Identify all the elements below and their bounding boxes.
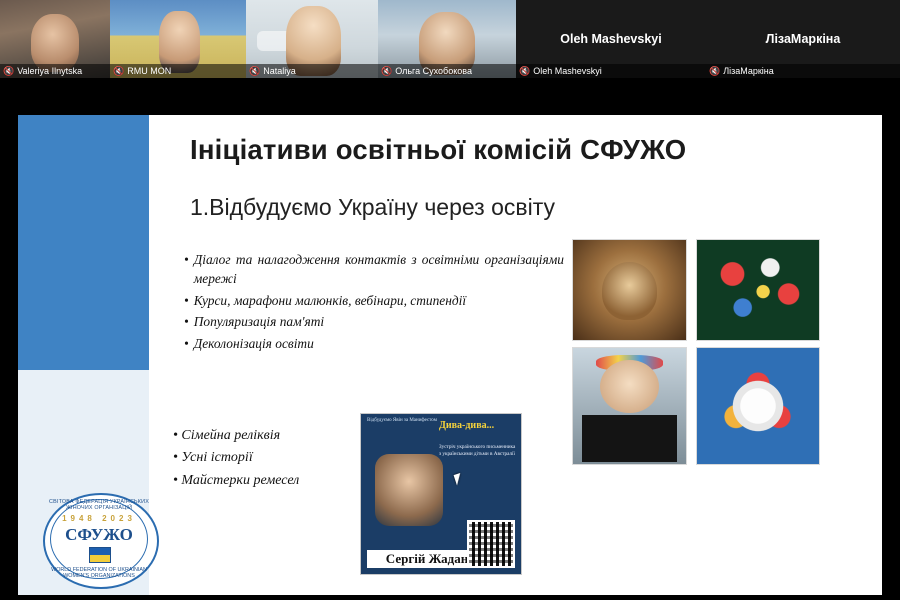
flower-wreath-icon — [596, 355, 664, 371]
overlay-logo-icon — [257, 31, 302, 51]
sfuzho-emblem-logo: СВІТОВА ФЕДЕРАЦІЯ УКРАЇНСЬКИХ ЖІНОЧИХ ОР… — [43, 493, 155, 585]
slide-photo-grid — [558, 239, 818, 509]
participant-tile-2[interactable]: 🔇 Nataliya — [246, 0, 378, 78]
floral-embroidery-dark-photo — [696, 239, 820, 341]
bullet-dot-icon: • — [184, 334, 189, 353]
event-poster-image: Відбудуємо Явін за Манифестом Дива-дива.… — [360, 413, 522, 575]
bullet-dot-icon: • — [184, 312, 189, 331]
poster-top-note: Відбудуємо Явін за Манифестом — [367, 418, 437, 423]
bullet-text: Популяризація пам'яті — [194, 312, 564, 331]
participant-tile-3[interactable]: 🔇 Ольга Сухобокова — [378, 0, 516, 78]
bullet-text: Діалог та налагодження контактів з освіт… — [194, 250, 564, 289]
mic-off-icon: 🔇 — [519, 67, 530, 76]
bullet-text: Сімейна реліквія — [181, 428, 280, 443]
video-call-screen: 🔇 Valeriya Ilnytska 🔇 RMU MON 🔇 Nataliya… — [0, 0, 900, 600]
mic-off-icon: 🔇 — [3, 67, 14, 76]
participant-namebar-5: 🔇 ЛізаМаркіна — [706, 64, 900, 78]
bullet-dot-icon: • — [173, 450, 178, 465]
mic-off-icon: 🔇 — [113, 67, 124, 76]
participant-tile-1[interactable]: 🔇 RMU MON — [110, 0, 246, 78]
participant-name-label-4: Oleh Mashevskyi — [533, 64, 602, 78]
poster-title: Дива-дива... — [439, 420, 517, 431]
participant-name-1: RMU MON — [127, 64, 171, 78]
participant-name-3: Ольга Сухобокова — [395, 64, 472, 78]
participant-tile-4[interactable]: Oleh Mashevskyi 🔇 Oleh Mashevskyi — [516, 0, 706, 78]
participant-tile-5[interactable]: ЛізаМаркіна 🔇 ЛізаМаркіна — [706, 0, 900, 78]
qr-code-icon — [467, 520, 515, 568]
mic-off-icon: 🔇 — [381, 67, 392, 76]
bullet-dot-icon: • — [173, 473, 178, 488]
participant-tile-0[interactable]: 🔇 Valeriya Ilnytska — [0, 0, 110, 78]
floral-embroidery-blue-photo — [696, 347, 820, 465]
emblem-arc-bottom: WORLD FEDERATION OF UKRAINIAN WOMEN'S OR… — [43, 567, 155, 579]
presentation-slide: Ініціативи освітньої комісій СФУЖО 1.Від… — [18, 115, 882, 595]
poster-subtitle: Зустріч українського письменника з украї… — [439, 444, 517, 457]
ukraine-flag-icon — [89, 547, 111, 563]
embroidered-cloth — [582, 415, 677, 461]
bullet-text: Усні історії — [181, 450, 252, 465]
emblem-arc-top: СВІТОВА ФЕДЕРАЦІЯ УКРАЇНСЬКИХ ЖІНОЧИХ ОР… — [43, 499, 155, 511]
bullet-text: Майстерки ремесел — [181, 473, 299, 488]
slide-bullet-list: •Діалог та налагодження контактів з осві… — [184, 250, 564, 355]
participant-namebar-0: 🔇 Valeriya Ilnytska — [0, 64, 110, 78]
participant-name-label-5: ЛізаМаркіна — [723, 64, 774, 78]
shared-screen-area: Ініціативи освітньої комісій СФУЖО 1.Від… — [0, 78, 900, 600]
mic-off-icon: 🔇 — [249, 67, 260, 76]
bullet-dot-icon: • — [184, 250, 189, 289]
list-item: •Популяризація пам'яті — [184, 312, 564, 331]
cat-embroidery-photo — [572, 239, 687, 341]
participant-namebar-3: 🔇 Ольга Сухобокова — [378, 64, 516, 78]
participant-namebar-2: 🔇 Nataliya — [246, 64, 378, 78]
bullet-dot-icon: • — [184, 291, 189, 310]
emblem-years: 1948 2023 — [43, 514, 155, 523]
participant-name-4: Oleh Mashevskyi — [560, 32, 661, 46]
participant-name-2: Nataliya — [263, 64, 296, 78]
slide-subtitle: 1.Відбудуємо Україну через освіту — [190, 194, 810, 221]
bullet-text: Курси, марафони малюнків, вебінари, стип… — [194, 291, 564, 310]
poster-portrait — [375, 454, 443, 526]
list-item: •Деколонізація освіти — [184, 334, 564, 353]
girl-with-wreath-photo — [572, 347, 687, 465]
emblem-monogram: СФУЖО — [43, 525, 155, 545]
list-item: •Курси, марафони малюнків, вебінари, сти… — [184, 291, 564, 310]
slide-title: Ініціативи освітньої комісій СФУЖО — [190, 134, 850, 166]
list-item: •Діалог та налагодження контактів з осві… — [184, 250, 564, 289]
bullet-text: Деколонізація освіти — [194, 334, 564, 353]
mic-off-icon: 🔇 — [709, 67, 720, 76]
participant-filmstrip: 🔇 Valeriya Ilnytska 🔇 RMU MON 🔇 Nataliya… — [0, 0, 900, 78]
participant-name-5: ЛізаМаркіна — [766, 32, 841, 46]
participant-namebar-1: 🔇 RMU MON — [110, 64, 246, 78]
participant-namebar-4: 🔇 Oleh Mashevskyi — [516, 64, 706, 78]
bullet-dot-icon: • — [173, 428, 178, 443]
participant-name-0: Valeriya Ilnytska — [17, 64, 82, 78]
